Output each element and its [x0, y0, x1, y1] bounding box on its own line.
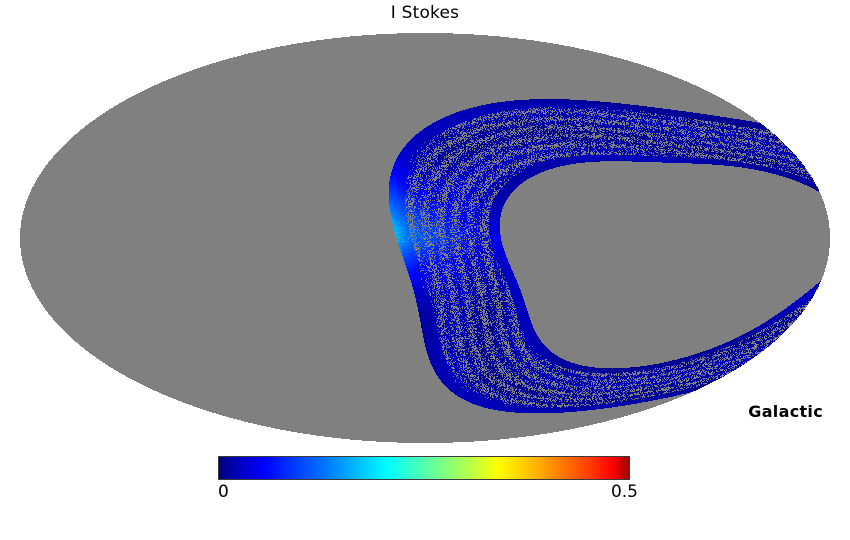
colorbar[interactable]: 0 0.5: [218, 456, 632, 482]
colorbar-min-tick-label: 0: [218, 482, 229, 502]
page-title: I Stokes: [0, 2, 850, 24]
colorbar-gradient[interactable]: [218, 456, 630, 480]
figure-canvas: I Stokes Galactic 0 0.5: [0, 0, 850, 540]
coordinate-system-label: Galactic: [748, 402, 823, 421]
mollweide-projection: [0, 28, 850, 448]
sky-map-canvas: [0, 28, 850, 448]
colorbar-max-tick-label: 0.5: [611, 482, 638, 502]
